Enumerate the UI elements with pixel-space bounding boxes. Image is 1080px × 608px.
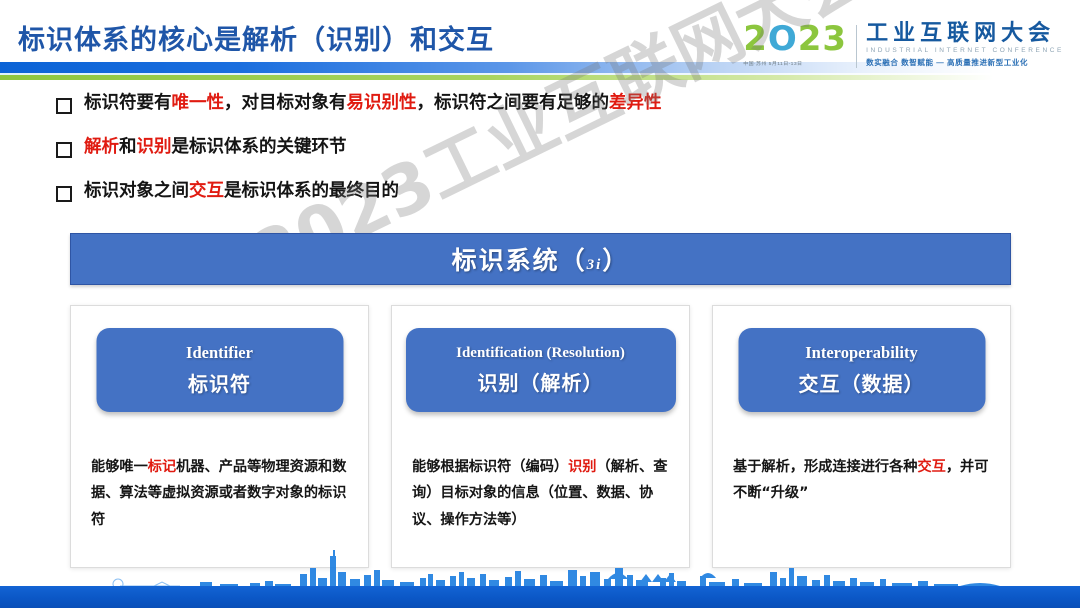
square-outline-icon	[56, 98, 72, 114]
conference-logo: 2O23 中国·苏州 5月11日-13日 工业互联网大会 INDUSTRIAL …	[743, 22, 1064, 68]
diagram-banner-text: 标识系统（3i）	[452, 241, 630, 277]
card-title-en: Identification (Resolution)	[456, 344, 625, 362]
highlighted-term: 交互	[189, 181, 224, 201]
bullet-text: 标识符要有唯一性，对目标对象有易识别性，标识符之间要有足够的差异性	[84, 92, 662, 115]
page-title: 标识体系的核心是解析（识别）和交互	[18, 18, 494, 57]
card-title-cn: 识别（解析）	[478, 367, 604, 396]
highlighted-term: 识别	[568, 459, 596, 475]
card-description: 能够唯一标记机器、产品等物理资源和数据、算法等虚拟资源或者数字对象的标识符	[91, 454, 350, 533]
plain-text: 是标识体系的最终目的	[224, 181, 399, 201]
highlighted-term: 差异性	[609, 93, 662, 113]
highlighted-term: 解析	[84, 137, 119, 157]
highlighted-term: 易识别性	[347, 93, 417, 113]
banner-main: 标识系统（	[452, 246, 587, 275]
card-pill: Interoperability 交互（数据）	[738, 328, 985, 412]
plain-text: 是标识体系的关键环节	[172, 137, 347, 157]
card-pill: Identification (Resolution) 识别（解析）	[406, 328, 676, 412]
card-title-en: Identifier	[186, 343, 253, 363]
banner-sub: 3i	[587, 257, 603, 273]
highlighted-term: 识别	[137, 137, 172, 157]
plain-text: 标识符要有	[84, 93, 172, 113]
card-title-cn: 标识符	[188, 368, 251, 397]
square-outline-icon	[56, 142, 72, 158]
plain-text: 标识对象之间	[84, 181, 189, 201]
square-outline-icon	[56, 186, 72, 202]
logo-year-block: 2O23 中国·苏州 5月11日-13日	[743, 22, 847, 67]
plain-text: 基于解析，形成连接进行各种	[733, 459, 917, 475]
card-title-cn: 交互（数据）	[799, 368, 925, 397]
logo-year: 2O23	[743, 22, 847, 56]
highlighted-term: 唯一性	[172, 93, 225, 113]
logo-slogan: 数实融合 数智赋能 — 高质量推进新型工业化	[866, 57, 1028, 68]
footer-sea-band	[0, 586, 1080, 608]
diagram-cards: Identifier 标识符 能够唯一标记机器、产品等物理资源和数据、算法等虚拟…	[70, 305, 1011, 568]
logo-name-en: INDUSTRIAL INTERNET CONFERENCE	[866, 47, 1064, 54]
card-pill: Identifier 标识符	[96, 328, 343, 412]
card-description: 基于解析，形成连接进行各种交互，并可不断“升级”	[733, 454, 992, 507]
bullet-text: 标识对象之间交互是标识体系的最终目的	[84, 180, 399, 203]
bullet-list: 标识符要有唯一性，对目标对象有易识别性，标识符之间要有足够的差异性 解析和识别是…	[56, 92, 1016, 223]
bullet-text: 解析和识别是标识体系的关键环节	[84, 136, 347, 159]
diagram-banner: 标识系统（3i）	[70, 233, 1011, 285]
plain-text: 和	[119, 137, 137, 157]
highlighted-term: 交互	[917, 459, 945, 475]
plain-text: 能够唯一	[91, 459, 148, 475]
bullet-item: 解析和识别是标识体系的关键环节	[56, 136, 1016, 159]
plain-text: ，对目标对象有	[224, 93, 347, 113]
bullet-item: 标识符要有唯一性，对目标对象有易识别性，标识符之间要有足够的差异性	[56, 92, 1016, 115]
logo-date: 中国·苏州 5月11日-13日	[743, 60, 802, 67]
logo-divider	[856, 25, 857, 68]
highlighted-term: 标记	[148, 459, 176, 475]
logo-name-cn: 工业互联网大会	[866, 22, 1055, 45]
plain-text: ，标识符之间要有足够的	[417, 93, 610, 113]
card-identifier: Identifier 标识符 能够唯一标记机器、产品等物理资源和数据、算法等虚拟…	[70, 305, 369, 568]
bullet-item: 标识对象之间交互是标识体系的最终目的	[56, 180, 1016, 203]
header-rule-green	[0, 75, 1080, 80]
card-title-en: Interoperability	[805, 343, 917, 363]
identification-system-diagram: 标识系统（3i） Identifier 标识符 能够唯一标记机器、产品等物理资源…	[70, 233, 1011, 285]
plain-text: 能够根据标识符（编码）	[412, 459, 568, 475]
slide-canvas: 标识体系的核心是解析（识别）和交互 2O23 中国·苏州 5月11日-13日 工…	[0, 0, 1080, 608]
card-interoperability: Interoperability 交互（数据） 基于解析，形成连接进行各种交互，…	[712, 305, 1011, 568]
banner-tail: ）	[602, 246, 629, 275]
logo-name-block: 工业互联网大会 INDUSTRIAL INTERNET CONFERENCE 数…	[866, 22, 1064, 68]
card-identification: Identification (Resolution) 识别（解析） 能够根据标…	[391, 305, 690, 568]
card-description: 能够根据标识符（编码）识别（解析、查询）目标对象的信息（位置、数据、协议、操作方…	[412, 454, 671, 533]
